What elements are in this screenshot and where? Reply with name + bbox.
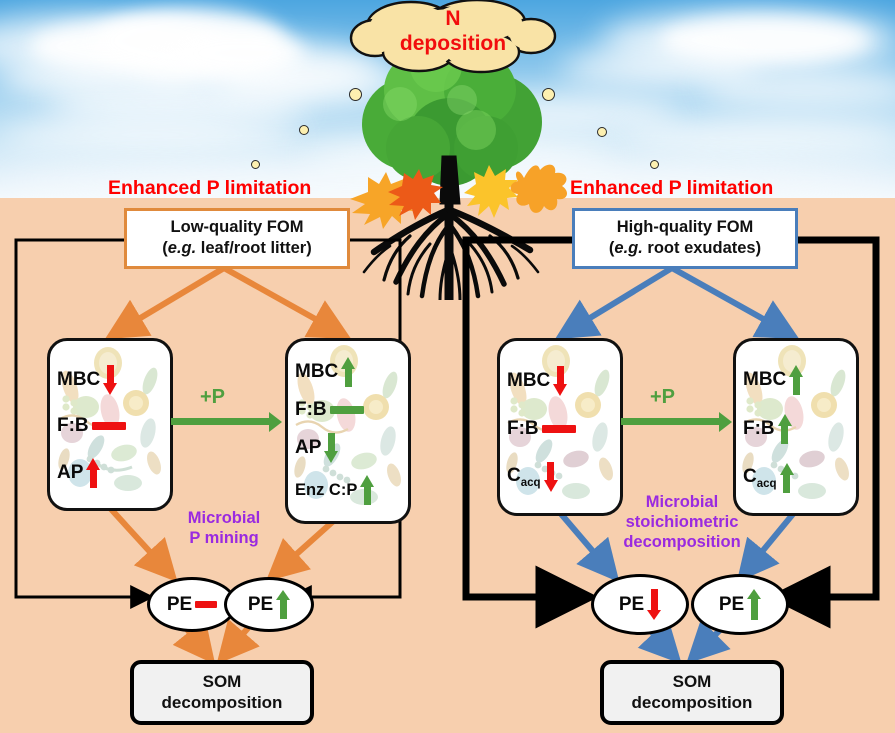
- indicator-row: AP: [295, 433, 401, 463]
- arrow-up-icon: [360, 475, 374, 505]
- indicator-row: MBC: [57, 365, 163, 395]
- arrow-up-icon: [86, 458, 100, 488]
- arrow-up-icon: [780, 463, 794, 493]
- indicator-row: F:B: [507, 418, 613, 440]
- c-acq-label: Cacq: [507, 465, 541, 489]
- arrow-flat-icon: [195, 601, 217, 608]
- indicator-row: F:B: [295, 399, 401, 421]
- indicator-row: MBC: [507, 366, 613, 396]
- indicator-row: Cacq: [507, 462, 613, 492]
- treatment-label-left: +P: [200, 386, 225, 409]
- indicator-rows: MBC F:B AP: [50, 341, 170, 508]
- som-decomposition-box-right[interactable]: SOM decomposition: [600, 660, 784, 725]
- indicator-row: Cacq: [743, 463, 849, 493]
- indicator-row: Enz C:P: [295, 475, 401, 505]
- microbe-box-left-before[interactable]: MBC F:B AP: [47, 338, 173, 511]
- pe-node-right-after[interactable]: PE: [691, 574, 789, 635]
- fom-line-2: (e.g. leaf/root litter): [137, 238, 337, 259]
- arrow-flat-icon: [92, 422, 126, 430]
- som-decomposition-box-left[interactable]: SOM decomposition: [130, 660, 314, 725]
- mechanism-caption-right: Microbial stoichiometric decomposition: [608, 492, 756, 552]
- arrow-flat-icon: [330, 406, 364, 414]
- treatment-arrow-right: [621, 418, 721, 425]
- microbe-box-right-before[interactable]: MBC F:B Cacq: [497, 338, 623, 516]
- heading-enhanced-p-limitation-right: Enhanced P limitation: [570, 177, 773, 200]
- arrow-flat-icon: [542, 425, 576, 433]
- treatment-label-right: +P: [650, 386, 675, 409]
- arrow-up-icon: [341, 357, 355, 387]
- high-quality-fom-box[interactable]: High-quality FOM (e.g. root exudates): [572, 208, 798, 269]
- arrow-down-icon: [544, 462, 558, 492]
- arrow-down-icon: [553, 366, 567, 396]
- arrow-up-icon: [276, 590, 290, 619]
- mechanism-caption-left: Microbial P mining: [164, 508, 284, 548]
- low-quality-fom-box[interactable]: Low-quality FOM (e.g. leaf/root litter): [124, 208, 350, 269]
- heading-enhanced-p-limitation-left: Enhanced P limitation: [108, 177, 311, 200]
- arrow-up-icon: [778, 414, 792, 444]
- n-deposition-label: N deposition: [349, 6, 557, 56]
- microbe-box-right-after[interactable]: MBC F:B Cacq: [733, 338, 859, 516]
- indicator-row: MBC: [743, 365, 849, 395]
- indicator-rows: MBC F:B Cacq: [500, 341, 620, 513]
- pe-node-left-after[interactable]: PE: [224, 577, 314, 632]
- indicator-rows: MBC F:B AP Enz C:P: [288, 341, 408, 521]
- arrow-up-icon: [747, 589, 761, 620]
- treatment-arrow-left: [171, 418, 271, 425]
- arrow-down-icon: [103, 365, 117, 395]
- indicator-row: AP: [57, 458, 163, 488]
- microbe-box-left-after[interactable]: MBC F:B AP Enz C:P: [285, 338, 411, 524]
- fom-line-1: High-quality FOM: [585, 217, 785, 238]
- indicator-row: F:B: [57, 415, 163, 437]
- fom-line-1: Low-quality FOM: [137, 217, 337, 238]
- indicator-rows: MBC F:B Cacq: [736, 341, 856, 513]
- indicator-row: MBC: [295, 357, 401, 387]
- arrow-down-icon: [324, 433, 338, 463]
- pe-node-right-before[interactable]: PE: [591, 574, 689, 635]
- indicator-row: F:B: [743, 414, 849, 444]
- figure-canvas: N deposition: [0, 0, 895, 733]
- fom-line-2: (e.g. root exudates): [585, 238, 785, 259]
- arrow-down-icon: [647, 589, 661, 620]
- c-acq-label: Cacq: [743, 466, 777, 490]
- arrow-up-icon: [789, 365, 803, 395]
